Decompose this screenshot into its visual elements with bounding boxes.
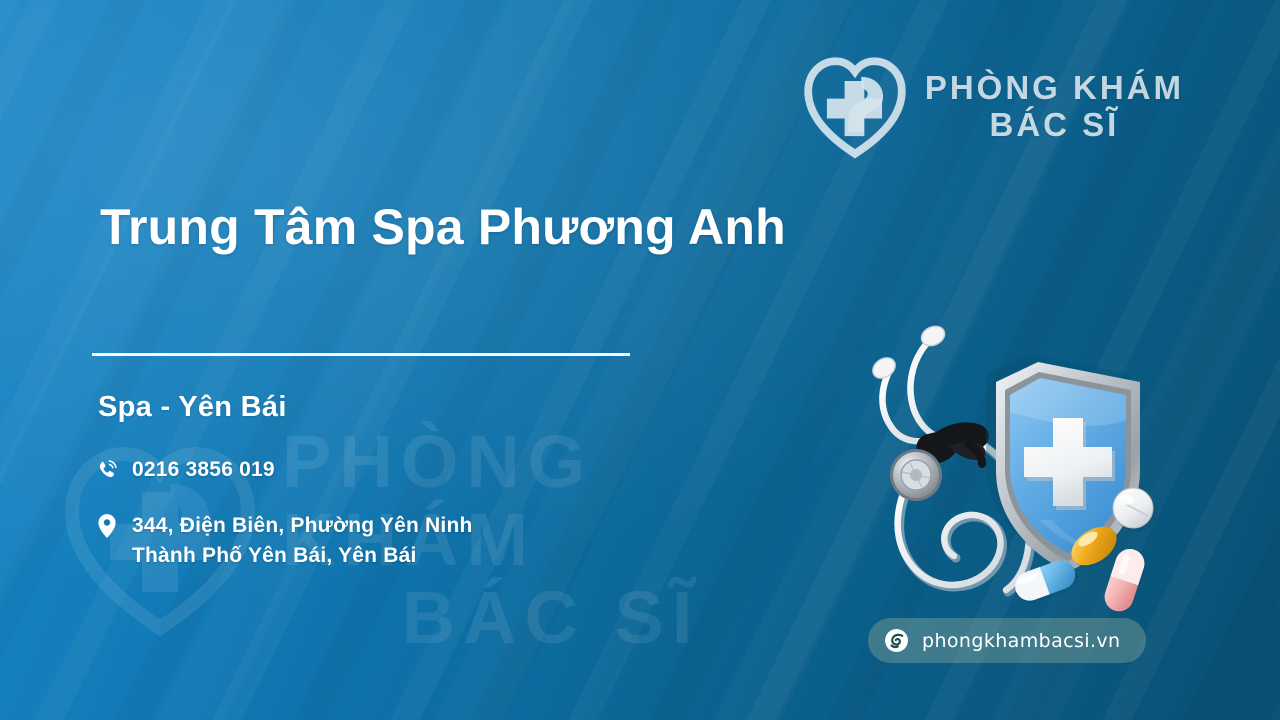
clinic-heart-cross-icon	[803, 55, 907, 159]
website-url: phongkhambacsi.vn	[922, 630, 1120, 652]
address-text: 344, Điện Biên, Phường Yên Ninh Thành Ph…	[132, 511, 473, 571]
brand-text: PHÒNG KHÁM BÁC SĨ	[925, 70, 1184, 144]
watermark-line-2: BÁC SĨ	[282, 579, 820, 657]
page-title: Trung Tâm Spa Phương Anh	[100, 198, 786, 256]
divider	[92, 353, 630, 356]
brand-logo[interactable]: PHÒNG KHÁM BÁC SĨ	[803, 55, 1184, 159]
location-pin-icon	[96, 513, 118, 539]
phone-row[interactable]: 0216 3856 019	[96, 455, 275, 485]
business-card-banner: PHÒNG KHÁM BÁC SĨ PHÒNG KHÁM BÁC SĨ Trun…	[0, 0, 1280, 720]
address-row[interactable]: 344, Điện Biên, Phường Yên Ninh Thành Ph…	[96, 511, 473, 571]
brand-line-2: BÁC SĨ	[925, 107, 1184, 144]
medical-illustration	[840, 320, 1180, 620]
brand-line-1: PHÒNG KHÁM	[925, 70, 1184, 107]
subtitle: Spa - Yên Bái	[98, 391, 287, 424]
phone-number: 0216 3856 019	[132, 455, 275, 485]
website-badge[interactable]: phongkhambacsi.vn	[868, 618, 1146, 663]
phone-ring-icon	[96, 457, 118, 483]
globe-icon	[884, 628, 909, 653]
